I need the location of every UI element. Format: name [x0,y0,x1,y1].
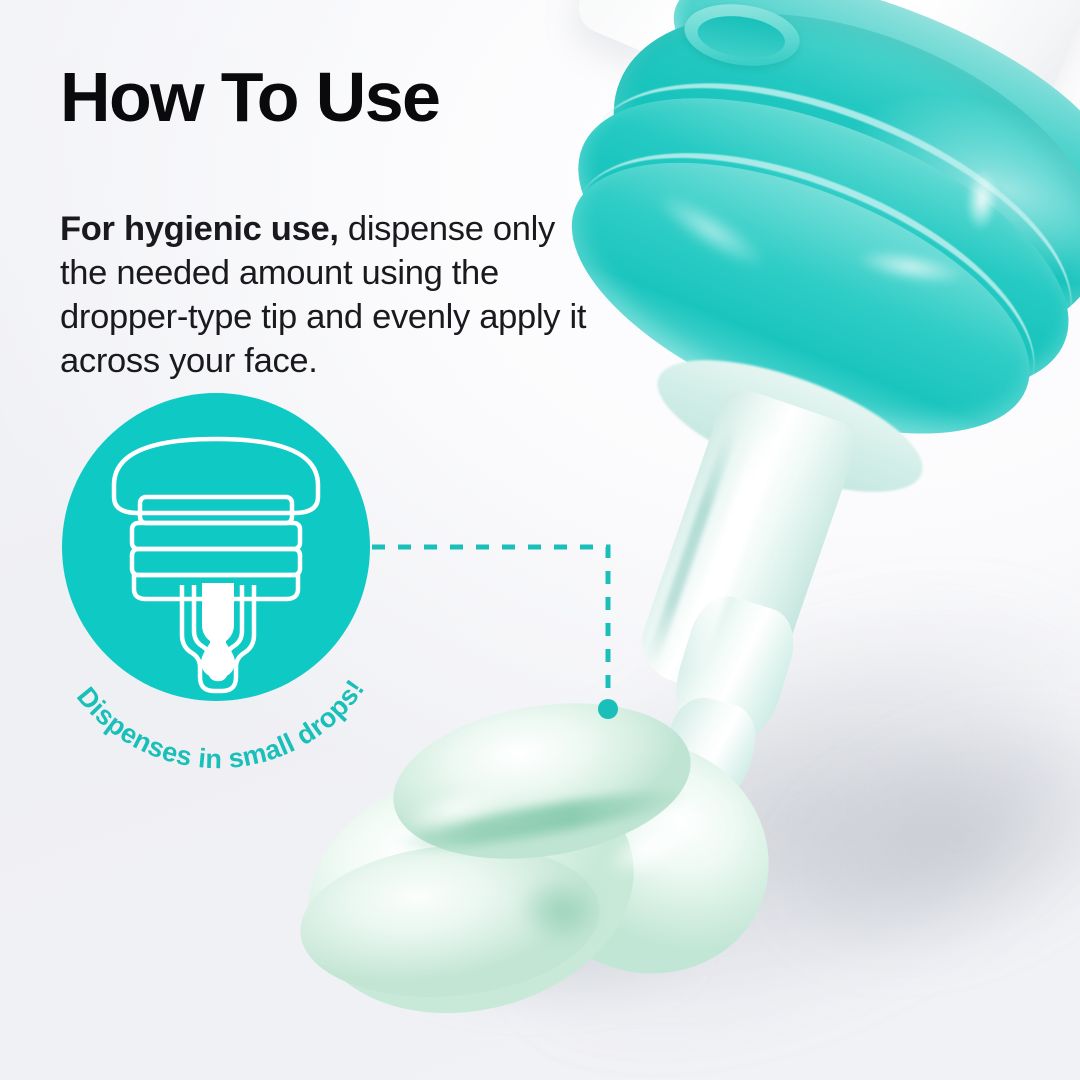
icon-thread-3 [132,549,300,575]
dropper-tip-with-droplet-icon [62,393,370,701]
icon-droplet [201,633,235,678]
icon-thread-2 [132,523,300,549]
instruction-lead: For hygienic use, [60,210,339,248]
icon-bottle-shoulder [114,439,318,513]
infographic-canvas: How To Use For hygienic use, dispense on… [0,0,1080,1080]
dispense-badge [62,393,370,701]
instruction-paragraph: For hygienic use, dispense only the need… [60,207,600,383]
page-title: How To Use [60,62,439,132]
icon-thread-1 [140,497,292,523]
